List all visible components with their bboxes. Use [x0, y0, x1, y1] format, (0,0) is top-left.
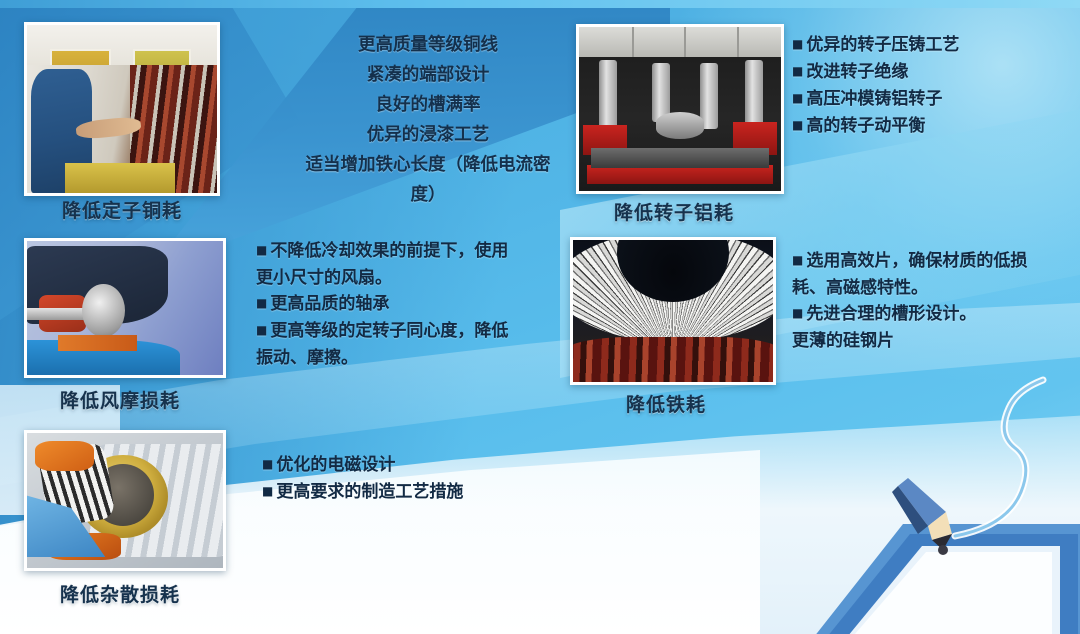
text-line: 适当增加铁心长度（降低电流密: [278, 150, 578, 180]
text-block-stray-loss: 优化的电磁设计 更高要求的制造工艺措施: [262, 452, 582, 506]
bullet-item: 改进转子绝缘: [792, 59, 1072, 86]
text-line: 优异的浸漆工艺: [278, 120, 578, 150]
bullet-item: 不降低冷却效果的前提下，使用: [256, 238, 556, 265]
bullet-item: 更高要求的制造工艺措施: [262, 479, 582, 506]
caption-rotor-aluminium-loss: 降低转子铝耗: [614, 198, 734, 225]
bullet-item: 先进合理的槽形设计。: [792, 301, 1074, 328]
bullet-item: 更高品质的轴承: [256, 291, 556, 318]
bullet-item: 选用高效片，确保材质的低损: [792, 248, 1074, 275]
graphics-tablet-icon: [660, 374, 1080, 634]
background-top-strip: [0, 0, 1080, 8]
text-block-rotor-aluminium: 优异的转子压铸工艺 改进转子绝缘 高压冲模铸铝转子 高的转子动平衡: [792, 32, 1072, 140]
caption-iron-loss: 降低铁耗: [626, 390, 706, 417]
bullet-item: 优异的转子压铸工艺: [792, 32, 1072, 59]
text-block-windage-friction: 不降低冷却效果的前提下，使用 更小尺寸的风扇。 更高品质的轴承 更高等级的定转子…: [256, 238, 556, 371]
caption-stator-copper-loss: 降低定子铜耗: [62, 196, 182, 223]
slide-canvas: 降低定子铜耗 降低转子铝耗: [0, 0, 1080, 634]
bullet-item: 更高等级的定转子同心度，降低: [256, 318, 556, 345]
photo-motor-end-cutaway: [24, 430, 226, 571]
photo-stator-lamination-core: [570, 237, 776, 385]
bullet-item: 高压冲模铸铝转子: [792, 86, 1072, 113]
text-line: 良好的槽满率: [278, 90, 578, 120]
bullet-item-cont: 更薄的硅钢片: [792, 328, 1074, 354]
bullet-item-cont: 振动、摩擦。: [256, 345, 556, 371]
text-block-iron-loss: 选用高效片，确保材质的低损 耗、高磁感特性。 先进合理的槽形设计。 更薄的硅钢片: [792, 248, 1074, 354]
photo-balancing-machine: [24, 238, 226, 378]
photo-die-casting-press: [576, 24, 784, 194]
bullet-item-cont: 耗、高磁感特性。: [792, 275, 1074, 301]
bullet-item: 优化的电磁设计: [262, 452, 582, 479]
text-line: 更高质量等级铜线: [278, 30, 578, 60]
bullet-item: 高的转子动平衡: [792, 113, 1072, 140]
text-line: 度）: [278, 180, 578, 210]
caption-windage-friction-loss: 降低风摩损耗: [60, 386, 180, 413]
caption-stray-loss: 降低杂散损耗: [60, 580, 180, 607]
text-line: 紧凑的端部设计: [278, 60, 578, 90]
photo-stator-winding-workshop: [24, 22, 220, 196]
text-block-stator-copper: 更高质量等级铜线 紧凑的端部设计 良好的槽满率 优异的浸漆工艺 适当增加铁心长度…: [278, 30, 578, 210]
bullet-item-cont: 更小尺寸的风扇。: [256, 265, 556, 291]
